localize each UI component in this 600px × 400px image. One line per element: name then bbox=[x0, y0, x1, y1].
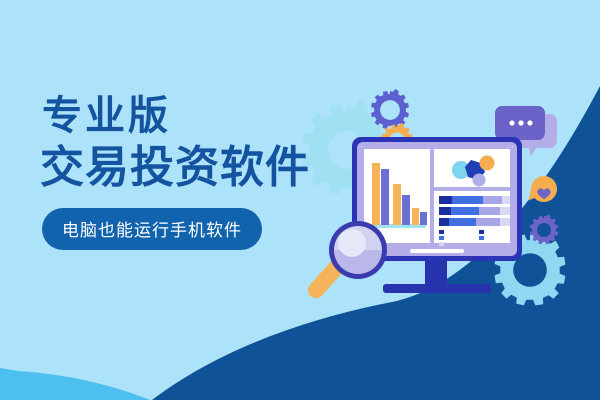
monitor-light-strip bbox=[410, 249, 464, 253]
text-block: 专业版 交易投资软件 电脑也能运行手机软件 bbox=[42, 96, 342, 250]
bar-orange-1 bbox=[372, 163, 380, 225]
heart-speech-bubble-icon bbox=[528, 176, 557, 202]
bar-orange-3 bbox=[412, 208, 419, 225]
node-orange bbox=[480, 156, 495, 171]
chat-dot-1 bbox=[509, 120, 514, 125]
monitor-stand-neck bbox=[425, 258, 447, 286]
chat-dot-2 bbox=[518, 120, 523, 125]
node-lavender bbox=[473, 174, 486, 187]
bar-purple-1 bbox=[381, 169, 389, 225]
legend-swatch-5 bbox=[479, 236, 484, 240]
bar-purple-3 bbox=[420, 212, 427, 225]
gear-purple-top-icon bbox=[371, 89, 409, 129]
page-title-line-2: 交易投资软件 bbox=[40, 146, 342, 190]
bar-orange-2 bbox=[393, 184, 401, 225]
subtitle-badge: 电脑也能运行手机软件 bbox=[42, 208, 262, 250]
legend-swatch-1 bbox=[439, 230, 444, 234]
bar-purple-2 bbox=[402, 195, 410, 225]
legend-swatch-4 bbox=[479, 230, 484, 234]
magnifier-highlight bbox=[338, 229, 366, 257]
legend-swatch-3 bbox=[439, 242, 444, 246]
legend-swatch-2 bbox=[439, 236, 444, 240]
monitor-stand-base bbox=[383, 284, 491, 293]
promo-banner: 专业版 交易投资软件 电脑也能运行手机软件 bbox=[0, 0, 600, 400]
chat-dot-3 bbox=[527, 120, 532, 125]
gear-purple-right-small-icon bbox=[530, 214, 558, 244]
page-title-line-1: 专业版 bbox=[42, 96, 342, 136]
